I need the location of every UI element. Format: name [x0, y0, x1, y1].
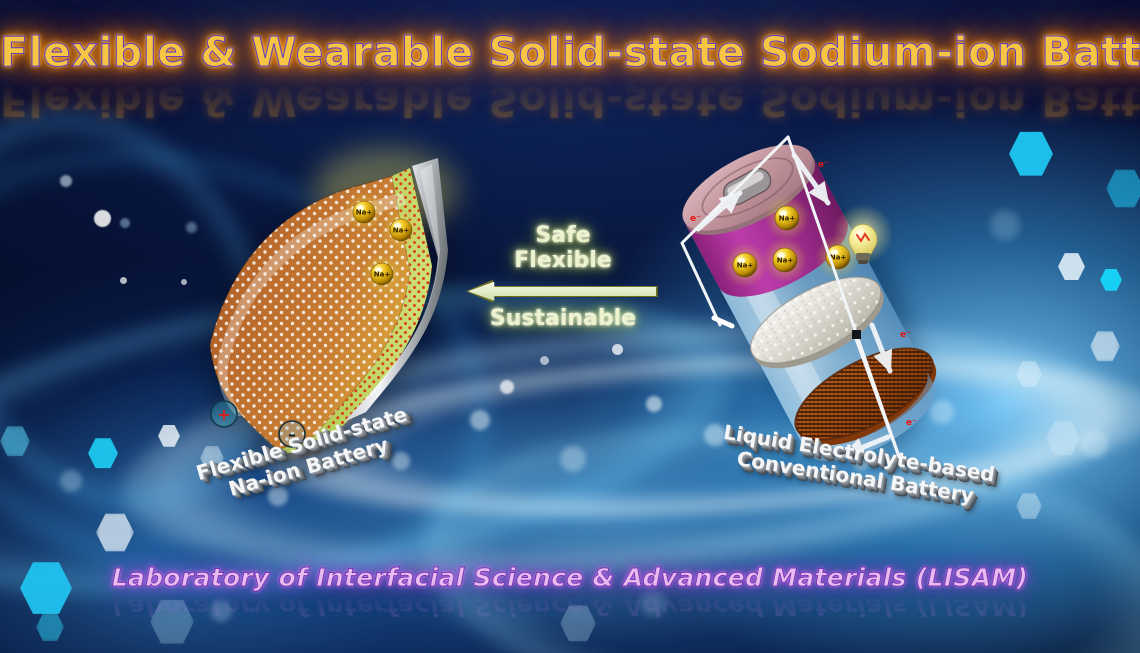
lab-name-reflection: Laboratory of Interfacial Science & Adva… — [0, 592, 1140, 621]
arrow-bottom-right-shaft — [872, 325, 890, 371]
hexagon-shape — [0, 425, 30, 457]
bokeh-dot — [470, 410, 490, 430]
page-title-reflection: Flexible & Wearable Solid-state Sodium-i… — [0, 77, 1140, 125]
bokeh-dot — [181, 279, 187, 285]
left-arrow-row — [468, 277, 658, 305]
bokeh-dot — [94, 210, 111, 227]
center-word-safe: Safe — [468, 224, 658, 249]
electron-label-top-left: e⁻ — [690, 214, 701, 224]
sodium-ion: Na+ — [343, 191, 385, 233]
bokeh-dot — [1080, 430, 1108, 458]
hexagon-shape — [1100, 268, 1122, 292]
footer-block: Laboratory of Interfacial Science & Adva… — [0, 563, 1140, 621]
hexagon-shape — [1090, 330, 1120, 362]
bokeh-dot — [612, 344, 623, 355]
hexagon-shape — [1106, 168, 1140, 209]
terminal-positive-label: + — [217, 405, 230, 424]
center-word-sustainable: Sustainable — [468, 307, 658, 332]
poster-canvas: Flexible & Wearable Solid-state Sodium-i… — [0, 0, 1140, 653]
hexagon-shape — [1016, 492, 1042, 520]
title-block: Flexible & Wearable Solid-state Sodium-i… — [0, 28, 1140, 125]
electron-label-top-right: e⁻ — [818, 160, 829, 170]
hexagon-shape — [1058, 252, 1085, 281]
bokeh-dot — [60, 175, 72, 187]
sodium-ion-label: Na+ — [393, 227, 410, 235]
light-bulb-icon — [833, 204, 893, 264]
hexagon-shape — [1016, 360, 1042, 388]
bokeh-dot — [990, 210, 1020, 240]
bokeh-dot — [60, 470, 82, 492]
page-title: Flexible & Wearable Solid-state Sodium-i… — [0, 28, 1140, 76]
sodium-ion-label: Na+ — [374, 271, 391, 279]
hexagon-shape — [88, 437, 118, 469]
center-word-flexible: Flexible — [468, 249, 658, 274]
lab-name: Laboratory of Interfacial Science & Adva… — [0, 563, 1140, 592]
bokeh-dot — [120, 218, 130, 228]
bokeh-dot — [560, 446, 586, 472]
electron-label-bottom: e⁻ — [906, 418, 917, 428]
hexagon-shape — [158, 424, 180, 448]
sodium-ion: Na+ — [361, 253, 403, 295]
arrow-top-left-shaft — [698, 193, 740, 229]
left-arrow-icon — [468, 281, 656, 301]
sodium-ion: Na+ — [380, 209, 422, 251]
hexagon-shape — [1009, 130, 1053, 178]
external-circuit-overlay: e⁻ e⁻ e⁻ e⁻ — [660, 125, 990, 475]
bokeh-dot — [540, 356, 549, 365]
bokeh-dot — [500, 380, 514, 394]
flexible-solid-state-battery-graphic: Na+Na+Na+ + – — [196, 150, 456, 460]
hexagon-shape — [1046, 420, 1080, 457]
circuit-cap-terminal-stub — [714, 318, 732, 326]
terminal-positive: + — [211, 401, 237, 427]
bokeh-dot — [120, 277, 127, 284]
sodium-ion-label: Na+ — [356, 209, 373, 217]
hexagon-shape — [96, 512, 134, 553]
circuit-electrode-terminal-stub — [852, 330, 861, 339]
electron-label-bottom-right: e⁻ — [900, 330, 911, 340]
comparison-arrow-block: Safe Flexible Sustainable — [468, 224, 658, 332]
